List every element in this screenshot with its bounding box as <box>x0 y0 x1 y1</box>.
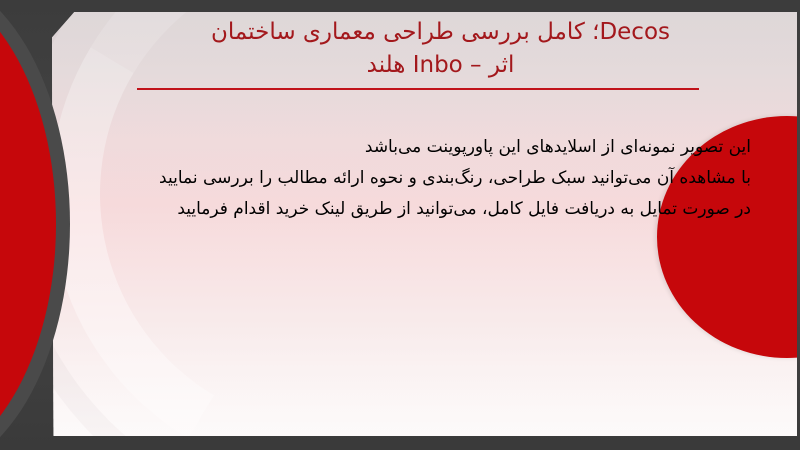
slide-content-panel: Decos؛ کامل بررسی طراحی معماری ساختمان ا… <box>52 12 797 436</box>
body-line-1: این تصویر نمونه‌ای از اسلایدهای این پاور… <box>138 132 751 163</box>
slide-title-line-2: اثر – Inbo هلند <box>132 49 749 82</box>
slide-body: این تصویر نمونه‌ای از اسلایدهای این پاور… <box>138 132 751 225</box>
slide-title-line-1: Decos؛ کامل بررسی طراحی معماری ساختمان <box>132 16 749 49</box>
slide-title: Decos؛ کامل بررسی طراحی معماری ساختمان ا… <box>132 16 749 82</box>
body-line-3: در صورت تمایل به دریافت فایل کامل، می‌تو… <box>138 194 751 225</box>
body-line-2: با مشاهده آن می‌توانید سبک طراحی، رنگ‌بن… <box>138 163 751 194</box>
slide-canvas: Decos؛ کامل بررسی طراحی معماری ساختمان ا… <box>0 0 800 450</box>
title-underline <box>137 88 699 90</box>
